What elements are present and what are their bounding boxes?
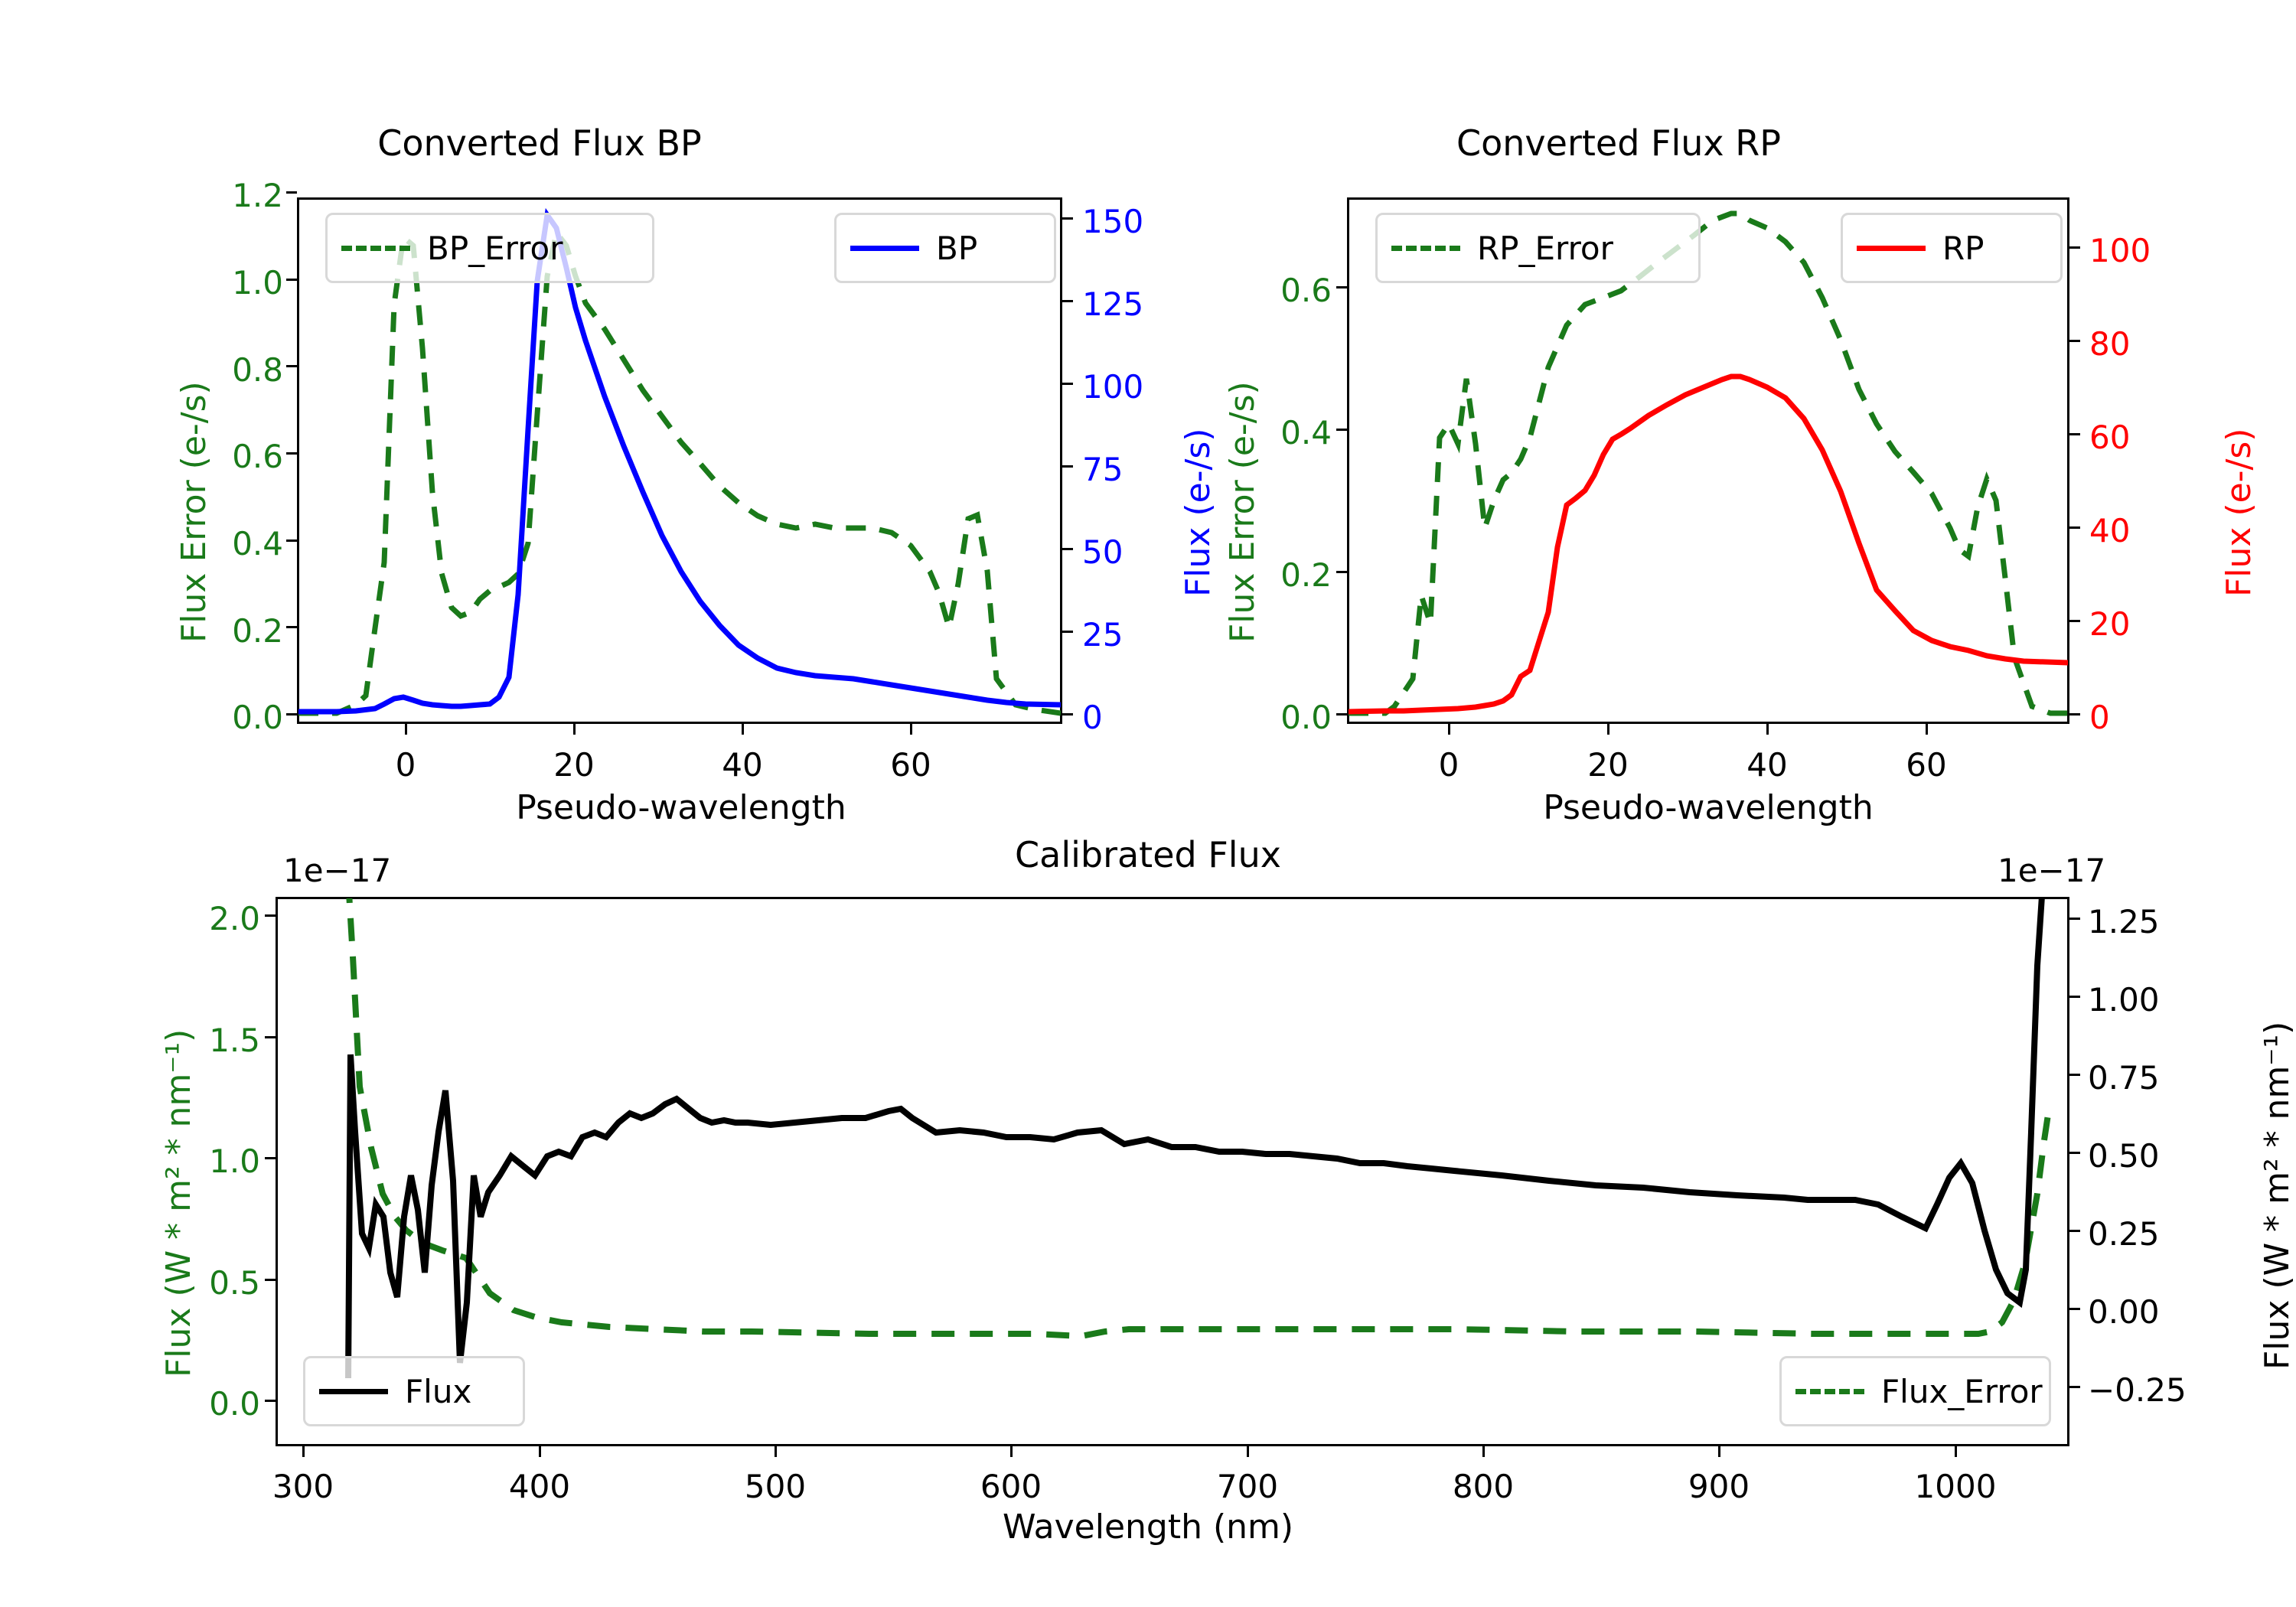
calibrated-flux-legend-label: Flux xyxy=(405,1373,471,1410)
calibrated-flux-error-curve xyxy=(348,880,2049,1336)
calibrated-flux-error-legend-swatch xyxy=(1795,1389,1864,1394)
figure-canvas: Converted Flux BP 0.0 0.2 0.4 0.6 0.8 1.… xyxy=(0,0,2296,1607)
calibrated-flux-error-legend-label: Flux_Error xyxy=(1881,1373,2043,1410)
calibrated-flux-legend-swatch xyxy=(319,1389,388,1394)
calibrated-legend-flux[interactable]: Flux xyxy=(303,1356,525,1426)
calibrated-legend-flux-error[interactable]: Flux_Error xyxy=(1779,1356,2051,1426)
calibrated-flux-curve xyxy=(348,896,2042,1378)
